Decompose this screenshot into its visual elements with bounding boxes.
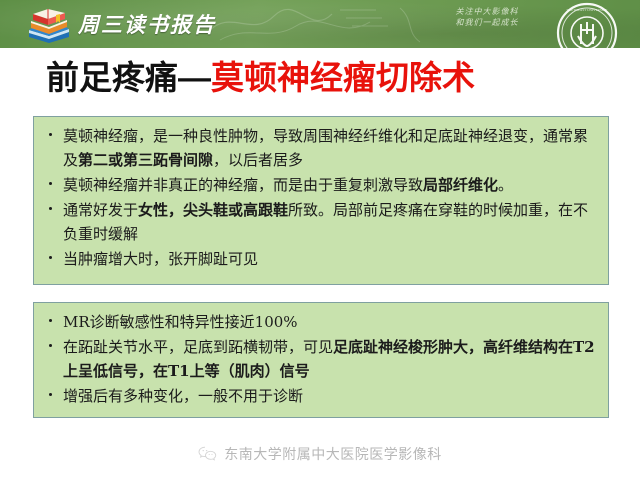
bullet-item: 通常好发于女性，尖头鞋或高跟鞋所致。局部前足疼痛在穿鞋的时候加重，在不负重时缓解 [43, 198, 599, 246]
page-title-red-part: 莫顿神经瘤切除术 [211, 59, 475, 96]
bullet-dot-icon [49, 393, 52, 396]
bullet-text-emphasis: 第二或第三跖骨间隙 [78, 151, 213, 169]
bullet-list-mri: MR诊断敏感性和特异性接近100%在跖趾关节水平，足底到跖横韧带，可见足底趾神经… [43, 310, 599, 408]
bullet-text: 通常好发于 [63, 201, 138, 219]
bullet-item: 莫顿神经瘤，是一种良性肿物，导致周围神经纤维化和足底趾神经退变，通常累及第二或第… [43, 124, 599, 172]
content-box-mri: MR诊断敏感性和特异性接近100%在跖趾关节水平，足底到跖横韧带，可见足底趾神经… [33, 302, 609, 418]
bullet-item: 当肿瘤增大时，张开脚趾可见 [43, 247, 599, 271]
bullet-item: 增强后有多种变化，一般不用于诊断 [43, 384, 599, 408]
bullet-text: ，以后者居多 [213, 151, 303, 169]
bullet-dot-icon [49, 256, 52, 259]
bullet-dot-icon [49, 182, 52, 185]
bullet-item: 莫顿神经瘤并非真正的神经瘤，而是由于重复刺激导致局部纤维化。 [43, 173, 599, 197]
svg-text:SOUTHEAST UNIVERSITY: SOUTHEAST UNIVERSITY [567, 8, 608, 12]
bullet-item: MR诊断敏感性和特异性接近100% [43, 310, 599, 334]
bullet-dot-icon [49, 207, 52, 210]
handwriting-line-1: 关注中大影像科 [432, 6, 542, 17]
header-band: 周三读书报告 关注中大影像科 和我们一起成长 SOUTHEAST UNIVERS… [0, 0, 640, 48]
footer: 东南大学附属中大医院医学影像科 [0, 441, 640, 467]
bullet-text: 增强后有多种变化，一般不用于诊断 [63, 387, 303, 405]
bullet-text-emphasis: 局部纤维化 [423, 176, 498, 194]
bullet-dot-icon [49, 319, 52, 322]
brand-title: 周三读书报告 [78, 9, 216, 39]
bullet-text: 莫顿神经瘤并非真正的神经瘤，而是由于重复刺激导致 [63, 176, 423, 194]
bullet-dot-icon [49, 344, 52, 347]
header-handwriting-note: 关注中大影像科 和我们一起成长 [432, 6, 542, 28]
bullet-text-emphasis: 女性，尖头鞋或高跟鞋 [138, 201, 288, 219]
bullet-text: 在跖趾关节水平，足底到跖横韧带，可见 [63, 338, 333, 356]
wechat-icon [198, 446, 217, 462]
page-title: 前足疼痛—莫顿神经瘤切除术 [46, 58, 475, 98]
bullet-text: 。 [498, 176, 513, 194]
bullet-dot-icon [49, 133, 52, 136]
bullet-text: MR诊断敏感性和特异性接近100% [63, 313, 298, 331]
footer-text: 东南大学附属中大医院医学影像科 [224, 444, 442, 464]
university-seal-icon: SOUTHEAST UNIVERSITY ZHONGDA HOSPITAL [556, 2, 618, 48]
content-box-clinical: 莫顿神经瘤，是一种良性肿物，导致周围神经纤维化和足底趾神经退变，通常累及第二或第… [33, 116, 609, 285]
bullet-text: 当肿瘤增大时，张开脚趾可见 [63, 250, 258, 268]
chalkboard-scribble-decoration [200, 2, 460, 46]
stacked-books-icon [26, 6, 72, 44]
page-title-dark-part: 前足疼痛— [46, 59, 211, 96]
handwriting-line-2: 和我们一起成长 [432, 17, 542, 28]
bullet-list-clinical: 莫顿神经瘤，是一种良性肿物，导致周围神经纤维化和足底趾神经退变，通常累及第二或第… [43, 124, 599, 271]
bullet-item: 在跖趾关节水平，足底到跖横韧带，可见足底趾神经梭形肿大，高纤维结构在T2上呈低信… [43, 335, 599, 383]
